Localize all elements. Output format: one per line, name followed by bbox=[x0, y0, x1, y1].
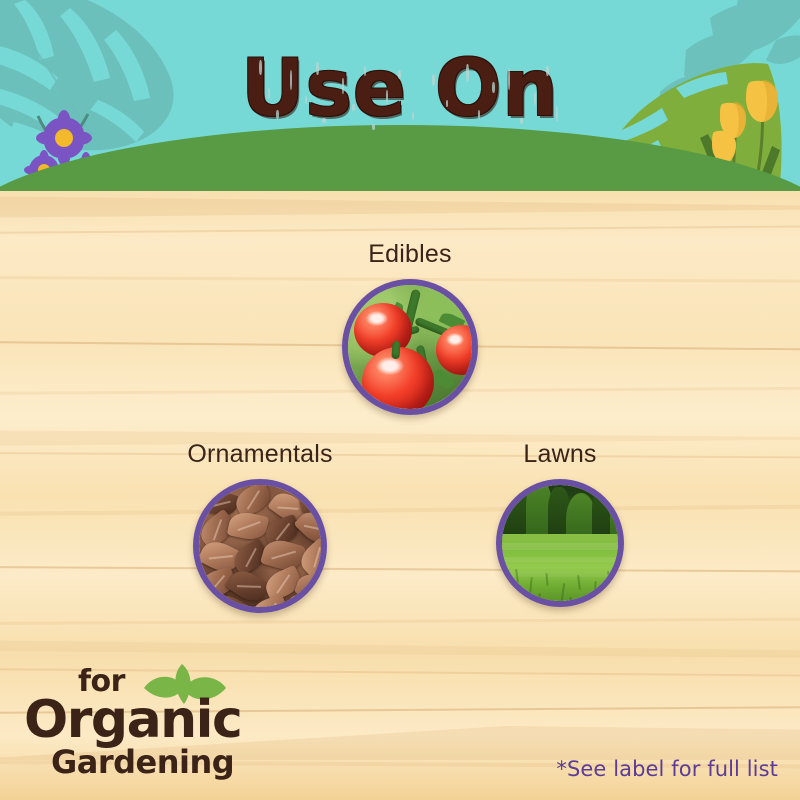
page-title: Use On bbox=[0, 44, 800, 134]
logo-line-gardening: Gardening bbox=[51, 743, 234, 781]
lawns-photo[interactable] bbox=[496, 479, 624, 607]
edibles-photo[interactable] bbox=[342, 279, 478, 415]
card-ornamentals[interactable]: Ornamentals bbox=[160, 440, 360, 613]
card-label-lawns: Lawns bbox=[470, 440, 650, 469]
logo-line-organic: Organic bbox=[24, 690, 241, 750]
organic-gardening-logo: for Organic Gardening bbox=[24, 664, 274, 784]
ornamentals-photo[interactable] bbox=[193, 479, 327, 613]
card-label-ornamentals: Ornamentals bbox=[160, 440, 360, 469]
infographic-canvas: Use On Edibles bbox=[0, 0, 800, 800]
card-label-edibles: Edibles bbox=[320, 240, 500, 269]
card-lawns[interactable]: Lawns bbox=[470, 440, 650, 607]
card-edibles[interactable]: Edibles bbox=[320, 240, 500, 415]
header-banner: Use On bbox=[0, 0, 800, 191]
footnote-see-label: *See label for full list bbox=[556, 757, 778, 781]
